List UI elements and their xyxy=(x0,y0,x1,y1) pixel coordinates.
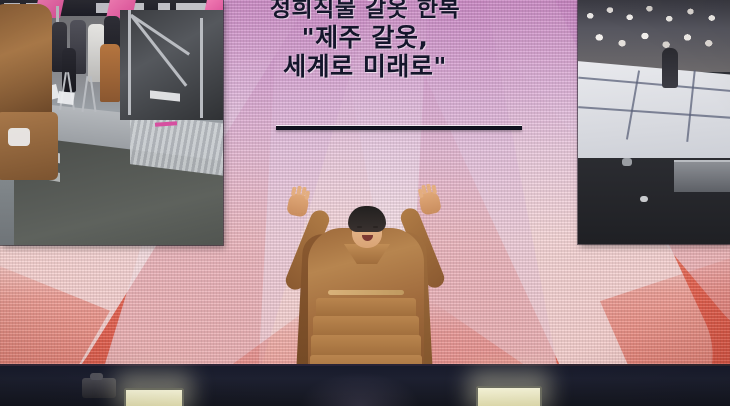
foreground-figure-hand xyxy=(8,128,30,146)
stage-light xyxy=(124,388,184,406)
model-belt xyxy=(328,290,404,295)
model-eye xyxy=(373,226,378,228)
panel-bench xyxy=(674,160,730,192)
floor-marker xyxy=(57,91,75,105)
stage-glow xyxy=(300,372,420,406)
led-title-line-1: 정희직물 갈옷 한복 xyxy=(0,0,730,22)
screenshot-root: 정희직물 갈옷 한복 "제주 갈옷, 세계로 미래로" xyxy=(0,0,730,406)
stage-floor xyxy=(0,364,730,406)
broadcast-camera xyxy=(82,378,116,398)
led-title-line-2: "제주 갈옷, xyxy=(0,24,730,52)
model-right-hand xyxy=(418,190,442,216)
panel-prop xyxy=(640,196,648,202)
led-title-divider xyxy=(276,126,522,130)
stage-light xyxy=(476,386,542,406)
model-eye xyxy=(357,226,362,228)
foreground-figure-lower xyxy=(0,112,58,180)
stage-floor-edge xyxy=(0,364,730,366)
model-hair xyxy=(348,206,386,232)
led-title-line-3: 세계로 미래로" xyxy=(0,53,730,81)
led-title-block: 정희직물 갈옷 한복 "제주 갈옷, 세계로 미래로" xyxy=(0,0,730,81)
panel-prop xyxy=(622,158,632,166)
model-left-hand xyxy=(286,192,310,218)
